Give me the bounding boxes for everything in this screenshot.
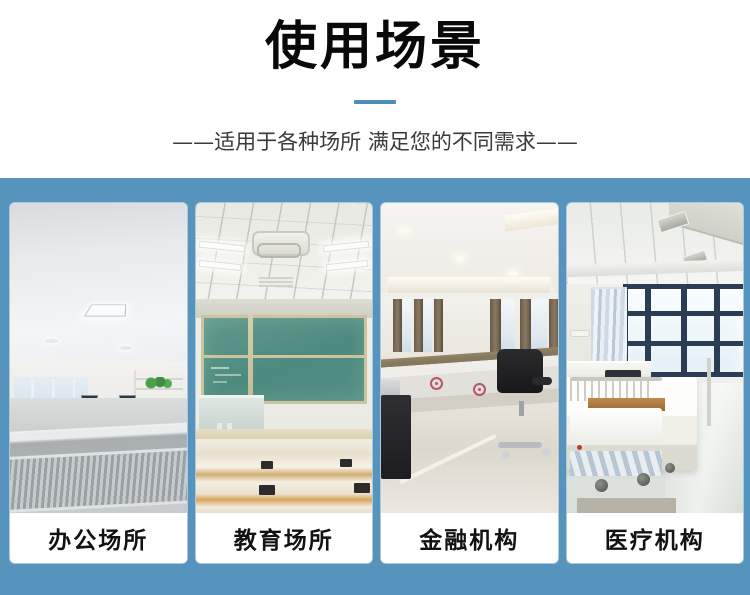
- floor-threshold: [577, 498, 676, 514]
- ceiling-vent: [259, 277, 293, 287]
- window-curtain: [393, 299, 402, 352]
- scene-card-office[interactable]: 办公场所: [10, 203, 187, 563]
- window-curtain: [549, 299, 558, 352]
- desk-fitting: [259, 485, 275, 495]
- bed-control-button: [577, 445, 582, 450]
- scene-card-medical[interactable]: 医疗机构: [567, 203, 744, 563]
- window-curtain: [520, 299, 531, 352]
- ceiling-panel-light-icon: [84, 305, 126, 317]
- title-divider: [354, 100, 396, 104]
- window-curtain: [434, 299, 443, 352]
- page-subtitle: ——适用于各种场所 满足您的不同需求——: [172, 126, 578, 156]
- office-photo: [10, 203, 187, 513]
- downlight-icon: [119, 346, 132, 350]
- scene-label-financial: 金融机构: [381, 513, 558, 563]
- header-section: 使用场景 ——适用于各种场所 满足您的不同需求——: [0, 0, 750, 178]
- scene-label-office: 办公场所: [10, 513, 187, 563]
- scene-label-education: 教育场所: [196, 513, 373, 563]
- window-curtain: [490, 299, 501, 352]
- bed-caster-wheel: [595, 479, 608, 492]
- wall-lamp: [570, 330, 590, 337]
- bank-photo: [381, 203, 558, 513]
- downlight-icon: [399, 228, 409, 233]
- louver-panel: [10, 448, 187, 513]
- iv-pole: [707, 358, 711, 426]
- scene-card-financial[interactable]: 金融机构: [381, 203, 558, 563]
- window-curtain: [414, 299, 423, 352]
- dark-cabinet: [381, 395, 411, 479]
- office-foreground-partition: [10, 423, 187, 513]
- office-ceiling: [10, 203, 187, 370]
- chair-post: [519, 401, 524, 416]
- bank-window: [529, 299, 547, 352]
- bed-rail: [570, 377, 662, 381]
- scene-card-education[interactable]: 教育场所: [196, 203, 373, 563]
- chalk-writing: [211, 364, 253, 386]
- ac-inner-frame: [257, 243, 301, 258]
- desk-fitting: [261, 461, 273, 469]
- green-chalkboard: [201, 315, 367, 405]
- chair-armrest: [532, 377, 552, 385]
- promo-page: 使用场景 ——适用于各种场所 满足您的不同需求——: [0, 0, 750, 595]
- ceiling-cove-light: [388, 277, 550, 293]
- office-chair-back: [497, 349, 543, 393]
- chair-base: [498, 442, 542, 448]
- bed-under-frame: [570, 451, 662, 476]
- bed-mattress: [570, 408, 662, 442]
- chalkboard-divider: [248, 315, 253, 405]
- scene-card-list: 办公场所: [10, 203, 743, 563]
- counter-logo-icon: [430, 377, 443, 390]
- chair-caster: [502, 451, 510, 459]
- counter-logo-icon: [473, 383, 486, 396]
- desk-fitting: [340, 459, 352, 467]
- shelf-plant: [142, 377, 172, 389]
- scenes-band: 办公场所: [0, 178, 750, 595]
- classroom-photo: [196, 203, 373, 513]
- downlight-icon: [455, 256, 465, 261]
- desk-fitting: [354, 483, 370, 493]
- student-desks: [196, 439, 373, 513]
- hospital-photo: [567, 203, 744, 513]
- chalkboard-rail: [201, 355, 367, 358]
- scene-label-medical: 医疗机构: [567, 513, 744, 563]
- bed-caster-wheel: [637, 473, 650, 486]
- page-title: 使用场景: [265, 18, 485, 78]
